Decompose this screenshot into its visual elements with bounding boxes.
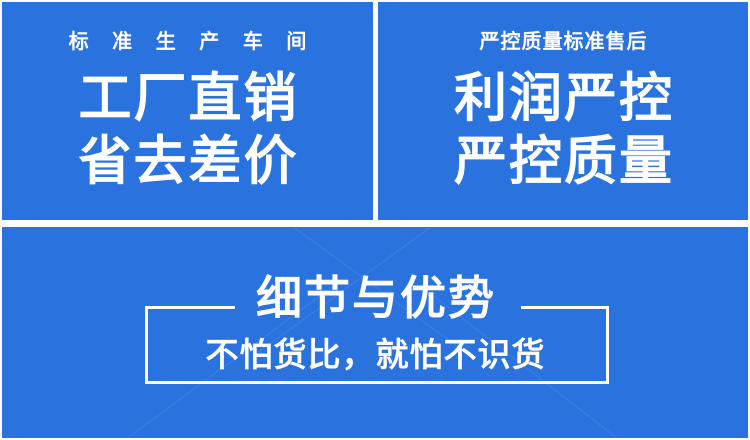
factory-headline-line1: 工厂直销 xyxy=(2,72,373,125)
panel-factory-direct-sales: 标 准 生 产 车 间 工厂直销 省去差价 xyxy=(2,2,373,220)
quality-headline-line1: 利润严控 xyxy=(378,72,748,125)
quality-eyebrow-text: 严控质量标准售后 xyxy=(378,32,748,52)
panel-details-and-advantages: 细节与优势 不怕货比，就怕不识货 xyxy=(2,227,748,438)
factory-eyebrow-text: 标 准 生 产 车 间 xyxy=(2,32,373,52)
panel-quality-control: 严控质量标准售后 利润严控 严控质量 xyxy=(378,2,748,220)
details-title: 细节与优势 xyxy=(2,275,748,321)
quality-headline-line2: 严控质量 xyxy=(378,135,748,188)
details-subtitle: 不怕货比，就怕不识货 xyxy=(2,338,748,371)
factory-headline-line2: 省去差价 xyxy=(2,135,373,188)
promotional-banner: 标 准 生 产 车 间 工厂直销 省去差价 严控质量标准售后 利润严控 严控质量… xyxy=(0,0,750,440)
